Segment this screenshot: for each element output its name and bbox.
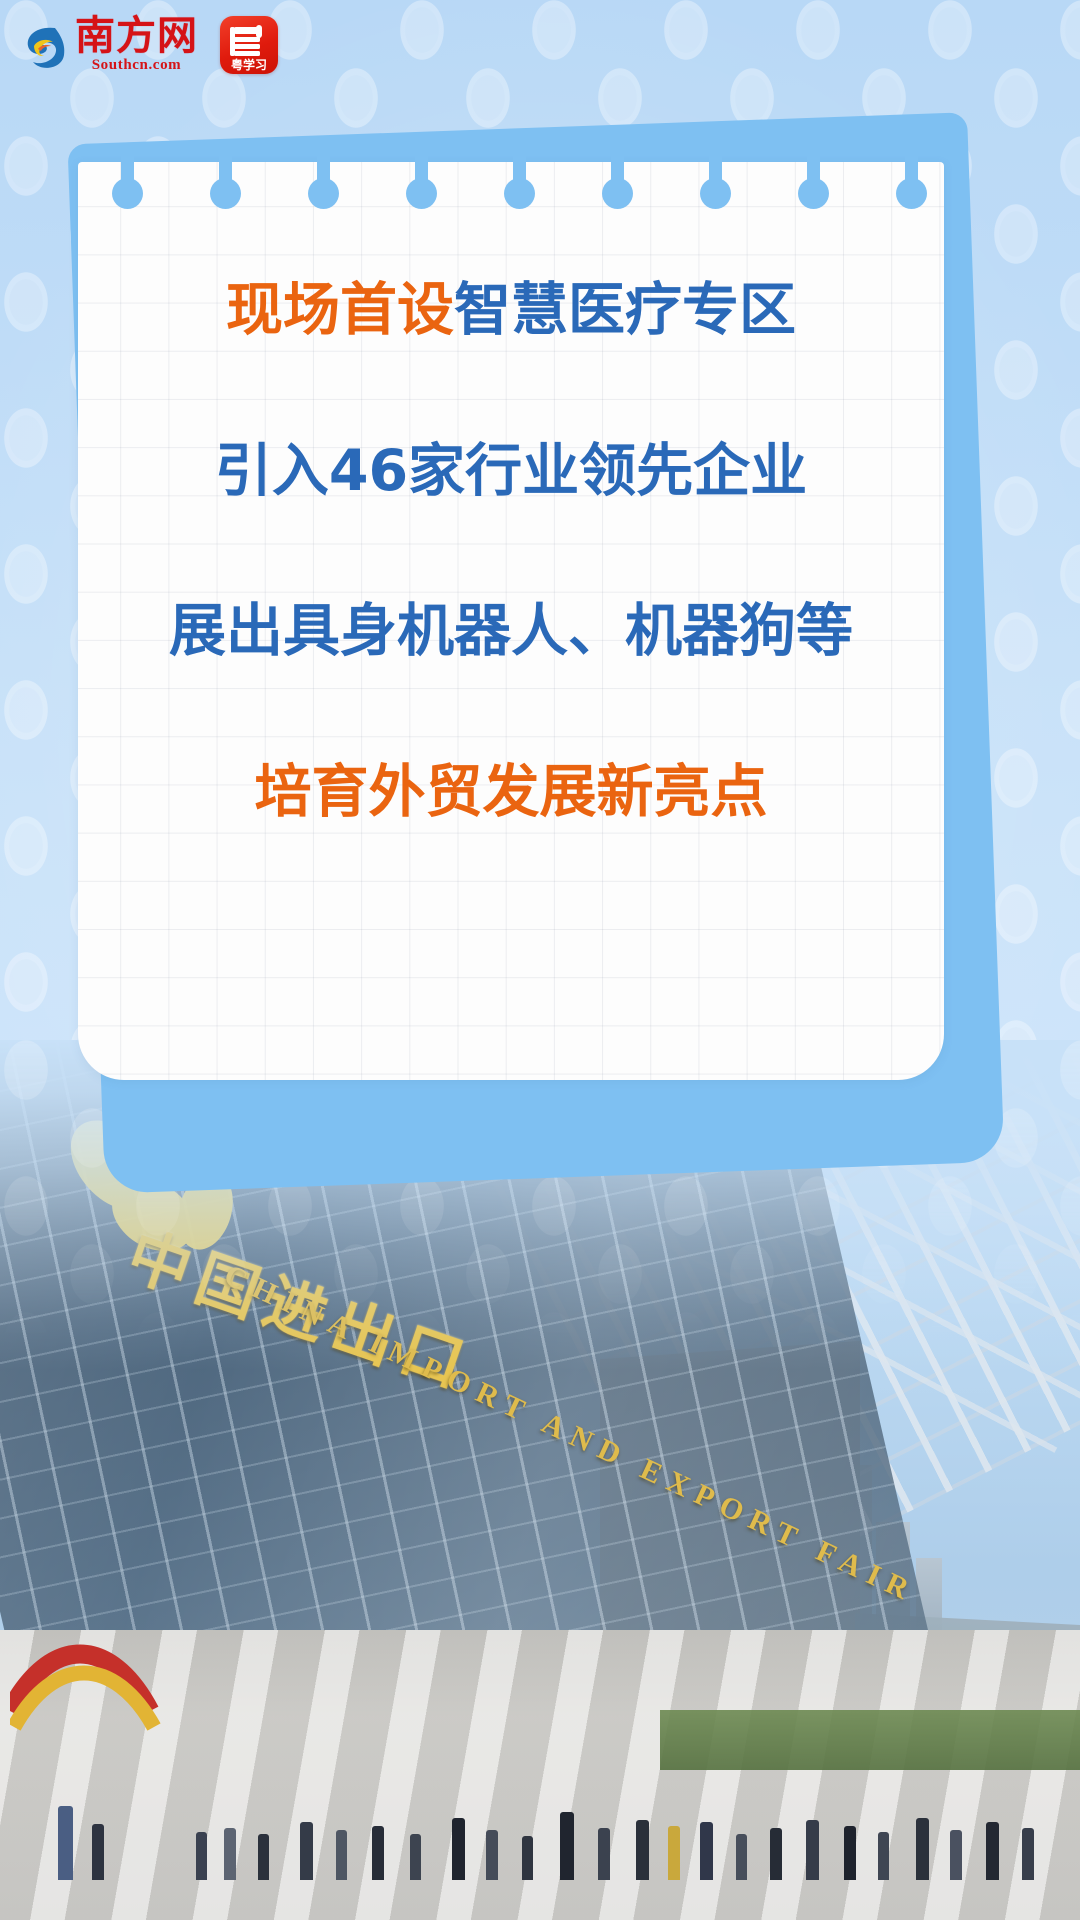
- southcn-logo[interactable]: 南方网 Southcn.com: [22, 16, 198, 74]
- southcn-domain: Southcn.com: [92, 57, 182, 74]
- southcn-chinese-name: 南方网: [75, 16, 198, 56]
- photo-crowd: [0, 1660, 1080, 1880]
- svg-text:粤学习: 粤学习: [231, 57, 267, 72]
- yuexuexi-app-icon[interactable]: 粤学习: [220, 16, 278, 74]
- notepad-binding-pins: [78, 156, 944, 246]
- yuexuexi-glyph: 粤学习: [220, 16, 278, 74]
- notepad-grid-lines: [78, 162, 944, 1080]
- southcn-swoosh-icon: [22, 22, 68, 74]
- notepad-paper: [78, 162, 944, 1080]
- header-logos: 南方网 Southcn.com 粤学习: [22, 16, 278, 74]
- poster-root: 中国进出口 CHINA IMPORT AND EXPORT FAIR: [0, 0, 1080, 1920]
- notepad: 现场首设智慧医疗专区 引入46家行业领先企业 展出具身机器人、机器狗等 培育外贸…: [0, 0, 1080, 1180]
